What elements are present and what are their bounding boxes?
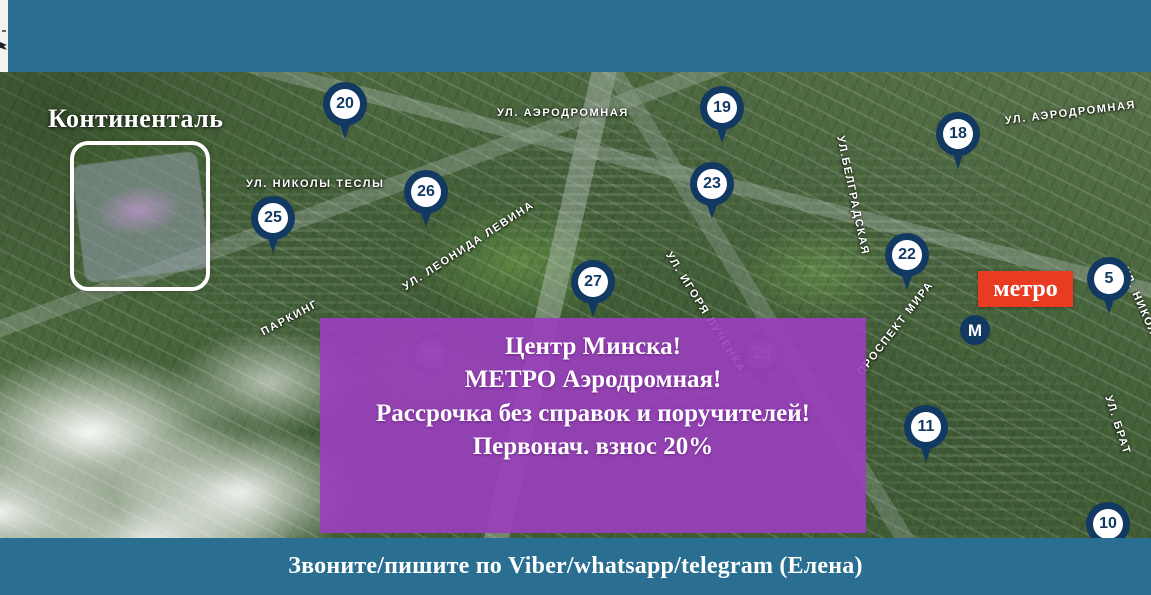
map-pin-19[interactable]: 19 (700, 86, 744, 144)
map-pin-23[interactable]: 23 (690, 162, 734, 220)
metro-m-glyph: M (968, 322, 982, 339)
metro-m-icon[interactable]: M (960, 315, 990, 345)
promo-line-1: Центр Минска! (320, 330, 866, 363)
map-pin-25[interactable]: 25 (251, 196, 295, 254)
map-pin-number: 19 (713, 100, 731, 116)
metro-station-badge[interactable]: метро (978, 271, 1073, 307)
map-pin-number: 20 (336, 96, 354, 112)
map-pin-5[interactable]: 5 (1087, 257, 1131, 315)
top-teal-bar (0, 0, 1151, 72)
top-bar-artifact-dash (2, 30, 6, 32)
map-pin-18[interactable]: 18 (936, 112, 980, 170)
map-pin-number: 27 (584, 274, 602, 290)
top-bar-left-edge-strip (0, 0, 8, 72)
map-pin-disc: 20 (330, 89, 360, 119)
continental-complex-highlight-box[interactable] (70, 141, 210, 291)
advertisement-banner: Континенталь УЛ. АЭРОДРОМНАЯ УЛ. АЭРОДРО… (0, 0, 1151, 595)
map-pin-disc: 11 (911, 412, 941, 442)
map-pin-number: 11 (918, 419, 935, 435)
map-pin-number: 10 (1099, 516, 1117, 532)
map-pin-27[interactable]: 27 (571, 260, 615, 318)
map-pin-number: 5 (1105, 271, 1114, 287)
map-pin-number: 26 (417, 184, 435, 200)
contact-instruction-text: Звоните/пишите по Viber/whatsapp/telegra… (288, 553, 862, 580)
map-pin-number: 22 (898, 247, 916, 263)
map-pin-11[interactable]: 11 (904, 405, 948, 463)
map-pin-22[interactable]: 22 (885, 233, 929, 291)
map-pin-number: 25 (264, 210, 282, 226)
promo-line-4: Первонач. взнос 20% (320, 430, 866, 463)
map-pin-number: 23 (703, 176, 721, 192)
street-label-nikoly-tesly: УЛ. НИКОЛЫ ТЕСЛЫ (246, 178, 384, 190)
promo-line-3: Рассрочка без справок и поручителей! (320, 397, 866, 430)
map-project-title: Континенталь (48, 104, 223, 134)
map-pin-disc: 5 (1094, 264, 1124, 294)
map-pin-number: 18 (949, 126, 967, 142)
map-pin-disc: 27 (578, 267, 608, 297)
map-pin-disc: 26 (411, 177, 441, 207)
promo-overlay-panel: Центр Минска! МЕТРО Аэродромная! Рассроч… (320, 318, 866, 533)
map-pin-disc: 23 (697, 169, 727, 199)
street-label-aerodromnaya-center: УЛ. АЭРОДРОМНАЯ (497, 107, 629, 119)
map-pin-26[interactable]: 26 (404, 170, 448, 228)
map-pin-disc: 22 (892, 240, 922, 270)
map-pin-disc: 10 (1093, 509, 1123, 538)
map-pin-disc: 18 (943, 119, 973, 149)
promo-line-2: МЕТРО Аэродромная! (320, 363, 866, 396)
metro-badge-label: метро (993, 277, 1057, 301)
bottom-contact-bar: Звоните/пишите по Viber/whatsapp/telegra… (0, 538, 1151, 595)
map-pin-20[interactable]: 20 (323, 82, 367, 140)
map-pin-disc: 19 (707, 93, 737, 123)
map-pin-disc: 25 (258, 203, 288, 233)
map-pin-10[interactable]: 10 (1086, 502, 1130, 538)
